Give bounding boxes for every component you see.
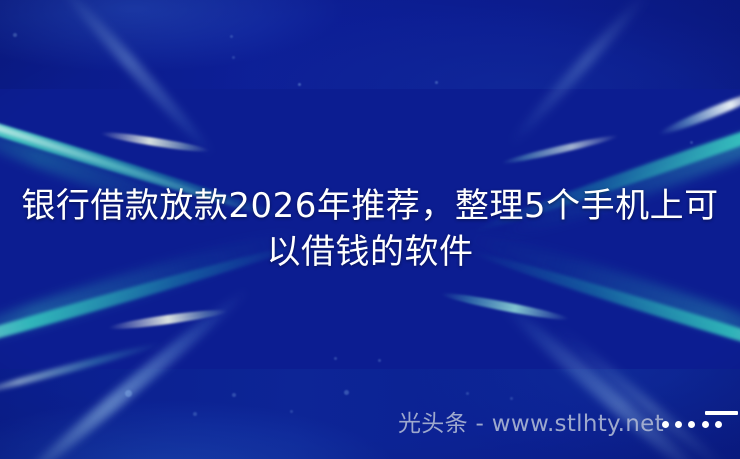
overlay-dot [675,421,682,428]
overlay-dot [702,421,709,428]
page-title: 银行借款放款2026年推荐，整理5个手机上可以借钱的软件 [0,183,740,275]
watermark-overlay-graphic [700,409,740,435]
overlay-bar [705,411,738,415]
site-watermark: 光头条 - www.stlhty.net [398,409,664,439]
overlay-dot [688,421,695,428]
promo-banner: 银行借款放款2026年推荐，整理5个手机上可以借钱的软件 光头条 - www.s… [0,0,740,459]
background-band-top [0,0,740,89]
overlay-dot [662,421,669,428]
overlay-dot [715,421,722,428]
